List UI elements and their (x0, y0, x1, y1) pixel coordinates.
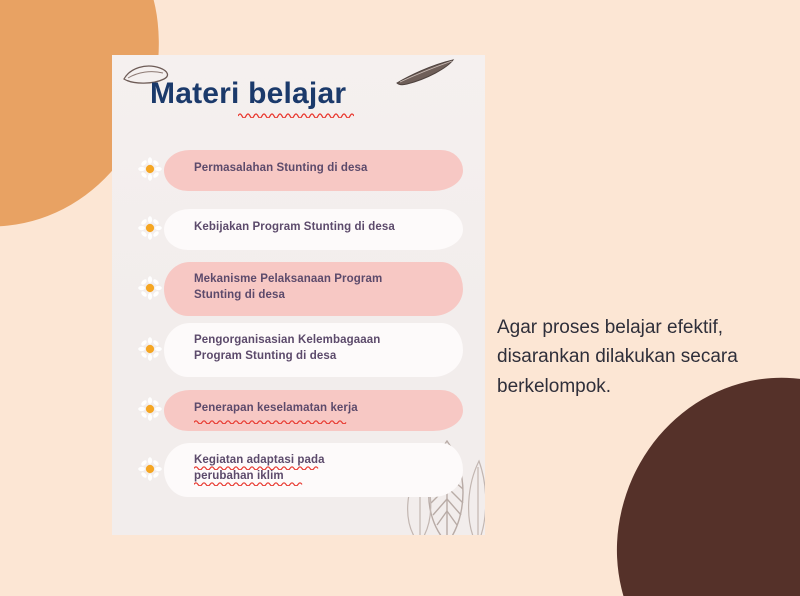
list-item[interactable]: Penerapan keselamatan kerja (112, 387, 485, 431)
side-note-text: Agar proses belajar efektif, disarankan … (497, 313, 747, 401)
daisy-flower-icon (138, 276, 162, 300)
list-item-text: Penerapan keselamatan kerja (194, 401, 358, 417)
content-card: Materi belajar (112, 55, 485, 535)
daisy-flower-icon (138, 457, 162, 481)
list-item-line: Kebijakan Program Stunting di desa (194, 220, 395, 236)
list-item-line: Penerapan keselamatan kerja (194, 401, 358, 417)
list-item-line: Pengorganisasian Kelembagaaan (194, 333, 380, 349)
list-item[interactable]: Pengorganisasian Kelembagaaan Program St… (112, 326, 485, 372)
list-item-text: Permasalahan Stunting di desa (194, 161, 368, 177)
spellcheck-squiggle-title (238, 112, 354, 118)
list-item-highlight: Kegiatan adaptasi pada perubahan iklim (178, 446, 457, 492)
leaf-icon-top-right (395, 57, 457, 87)
daisy-flower-icon (138, 337, 162, 361)
list-item[interactable]: Kegiatan adaptasi pada perubahan iklim (112, 446, 485, 492)
list-item-text: Mekanisme Pelaksanaan Program Stunting d… (194, 272, 382, 303)
list-item-line: Program Stunting di desa (194, 349, 380, 365)
list-item-text: Kebijakan Program Stunting di desa (194, 220, 395, 236)
list-item-line: perubahan iklim (194, 469, 325, 485)
list-item-line: Stunting di desa (194, 288, 382, 304)
list-item-line: Permasalahan Stunting di desa (194, 161, 368, 177)
materials-list: Permasalahan Stunting di desa (112, 147, 485, 507)
list-item[interactable]: Permasalahan Stunting di desa (112, 147, 485, 191)
daisy-flower-icon (138, 397, 162, 421)
list-item-text: Kegiatan adaptasi pada perubahan iklim (194, 453, 325, 484)
list-item-line: Kegiatan adaptasi pada (194, 453, 325, 469)
list-item[interactable]: Kebijakan Program Stunting di desa (112, 206, 485, 250)
list-item-highlight: Penerapan keselamatan kerja (178, 393, 457, 426)
list-item-highlight: Pengorganisasian Kelembagaaan Program St… (178, 326, 457, 372)
page-title: Materi belajar (150, 79, 346, 109)
list-item[interactable]: Mekanisme Pelaksanaan Program Stunting d… (112, 265, 485, 311)
list-item-text: Pengorganisasian Kelembagaaan Program St… (194, 333, 380, 364)
daisy-flower-icon (138, 216, 162, 240)
list-item-highlight: Mekanisme Pelaksanaan Program Stunting d… (178, 265, 457, 311)
list-item-highlight: Kebijakan Program Stunting di desa (178, 212, 457, 245)
daisy-flower-icon (138, 157, 162, 181)
list-item-line: Mekanisme Pelaksanaan Program (194, 272, 382, 288)
list-item-highlight: Permasalahan Stunting di desa (178, 153, 457, 186)
title-block: Materi belajar (150, 79, 346, 109)
slide-stage: Materi belajar (0, 0, 800, 596)
